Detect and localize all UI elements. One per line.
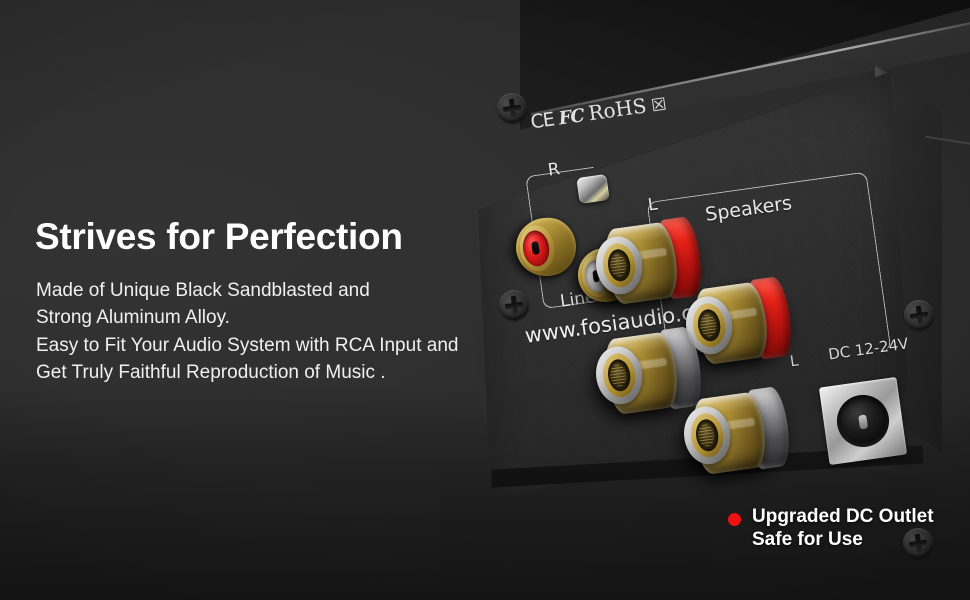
feature-callout: Upgraded DC Outlet Safe for Use (728, 506, 934, 552)
callout-text-block: Upgraded DC Outlet Safe for Use (752, 506, 934, 552)
body-line-1: Made of Unique Black Sandblasted and (36, 277, 506, 304)
dc-barrel-socket (834, 392, 893, 451)
fcc-mark-icon: FC (557, 105, 585, 129)
callout-bullet-icon (728, 513, 741, 526)
rca-center-pin (531, 241, 540, 255)
page-title: Strives for Perfection (35, 218, 403, 257)
marketing-body-copy: Made of Unique Black Sandblasted and Str… (36, 277, 506, 386)
rca-jack-right-red (512, 214, 579, 280)
callout-line-2: Safe for Use (752, 529, 934, 552)
ground-hex-standoff (576, 174, 609, 204)
body-line-4: Get Truly Faithful Reproduction of Music… (36, 359, 506, 386)
body-line-3: Easy to Fit Your Audio System with RCA I… (36, 332, 506, 359)
body-line-2: Strong Aluminum Alloy. (36, 304, 506, 331)
callout-line-1: Upgraded DC Outlet (752, 506, 934, 529)
ce-mark-icon: CE (529, 108, 555, 133)
dc-center-pin (858, 415, 868, 430)
dc-power-jack (819, 377, 907, 465)
product-marketing-banner: www.fosiaudio.com Line In CE FC RoHS ☒ R… (0, 0, 970, 600)
weee-bin-icon: ☒ (650, 95, 668, 117)
binding-post-left-negative (681, 383, 796, 481)
